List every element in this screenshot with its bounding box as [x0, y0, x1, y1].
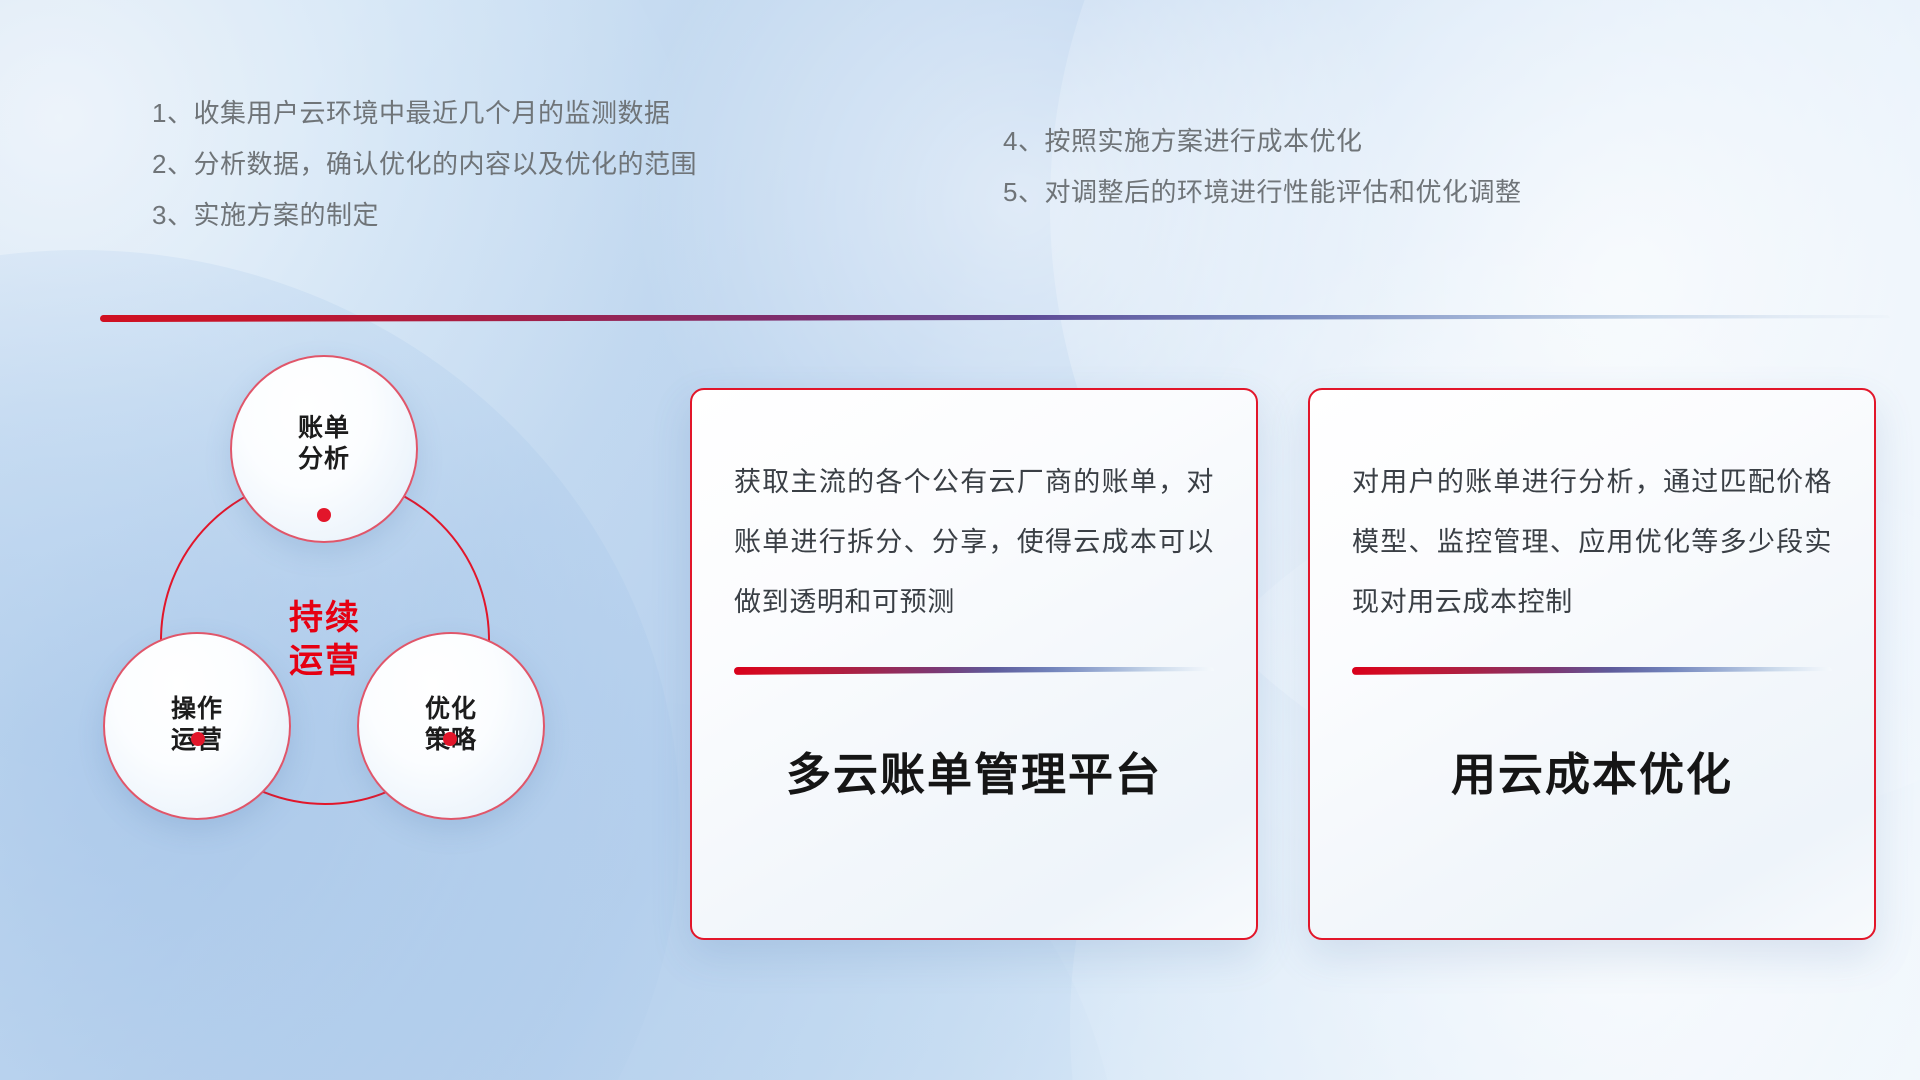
venn-connector-dot-bottom-right: [443, 732, 457, 746]
step-item-1: 1、收集用户云环境中最近几个月的监测数据: [152, 100, 697, 126]
venn-node-label-line-2: 分析: [232, 444, 416, 475]
venn-connector-dot-bottom-left: [191, 732, 205, 746]
venn-node-operations-label: 操作 运营: [105, 694, 289, 756]
venn-connector-dot-top: [317, 508, 331, 522]
steps-right-column: 4、按照实施方案进行成本优化 5、对调整后的环境进行性能评估和优化调整: [1003, 128, 1521, 205]
feature-card-cloud-cost-optimization[interactable]: 对用户的账单进行分析，通过匹配价格模型、监控管理、应用优化等多少段实现对用云成本…: [1308, 388, 1876, 940]
step-item-2: 2、分析数据，确认优化的内容以及优化的范围: [152, 151, 697, 177]
venn-node-label-line-1: 优化: [359, 694, 543, 725]
slide-canvas: 1、收集用户云环境中最近几个月的监测数据 2、分析数据，确认优化的内容以及优化的…: [0, 0, 1920, 1080]
steps-left-column: 1、收集用户云环境中最近几个月的监测数据 2、分析数据，确认优化的内容以及优化的…: [152, 100, 697, 228]
feature-card-title: 多云账单管理平台: [734, 738, 1214, 803]
venn-diagram: 持续 运营 账单 分析 操作 运营 优化 策略: [85, 355, 605, 935]
step-item-4: 4、按照实施方案进行成本优化: [1003, 128, 1521, 154]
feature-card-divider: [1352, 667, 1832, 675]
venn-node-label-line-1: 操作: [105, 694, 289, 725]
step-item-3: 3、实施方案的制定: [152, 202, 697, 228]
feature-card-body: 对用户的账单进行分析，通过匹配价格模型、监控管理、应用优化等多少段实现对用云成本…: [1352, 453, 1832, 633]
feature-card-title: 用云成本优化: [1352, 738, 1832, 803]
venn-node-optimization-strategy-label: 优化 策略: [359, 694, 543, 756]
step-item-5: 5、对调整后的环境进行性能评估和优化调整: [1003, 179, 1521, 205]
venn-node-billing-analysis-label: 账单 分析: [232, 413, 416, 475]
feature-card-multi-cloud-billing[interactable]: 获取主流的各个公有云厂商的账单，对账单进行拆分、分享，使得云成本可以做到透明和可…: [690, 388, 1258, 940]
feature-card-body: 获取主流的各个公有云厂商的账单，对账单进行拆分、分享，使得云成本可以做到透明和可…: [734, 453, 1214, 633]
venn-node-optimization-strategy[interactable]: 优化 策略: [357, 632, 545, 820]
feature-card-divider: [734, 667, 1214, 675]
venn-node-operations[interactable]: 操作 运营: [103, 632, 291, 820]
venn-node-label-line-1: 账单: [232, 413, 416, 444]
header-divider-rule: [100, 315, 1890, 322]
